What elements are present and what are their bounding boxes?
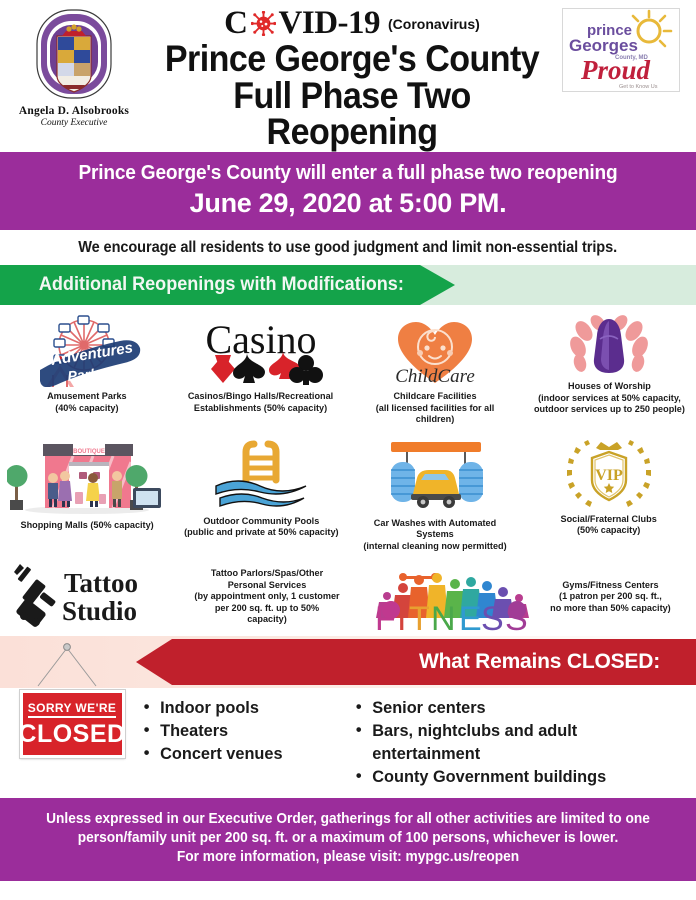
caption: Social/Fraternal Clubs (50% capacity): [561, 514, 657, 537]
caption-line-2: (indoor services at 50% capacity,: [534, 393, 685, 405]
fitness-people-icon: F I T N E S S: [371, 562, 541, 632]
caption-line-1: Amusement Parks: [47, 391, 127, 403]
caption-line-3: outdoor services up to 250 people): [534, 404, 685, 416]
svg-text:Park: Park: [67, 365, 100, 384]
tattoo-logo-line2: Studio: [62, 596, 137, 626]
reopenings-banner-strip: Additional Reopenings with Modifications…: [0, 265, 696, 305]
caption-line-1: Car Washes with Automated Systems: [356, 518, 514, 541]
reopening-item-outdoor-pools: Outdoor Community Pools (public and priv…: [174, 430, 348, 557]
reopening-item-amusement-parks: Adventures Park Amusement Parks (40% cap…: [0, 309, 174, 430]
caption-line-1: Tattoo Parlors/Spas/Other Personal Servi…: [194, 568, 340, 591]
coronavirus-label: (Coronavirus): [388, 16, 480, 32]
proud-logo-block: prince Georges County, MD Proud Get to K…: [556, 0, 696, 92]
caption-line-1: Gyms/Fitness Centers: [550, 580, 671, 592]
county-seal-block: Angela D. Alsobrooks County Executive: [0, 0, 148, 128]
closed-list-right: Senior centers Bars, nightclubs and adul…: [349, 696, 696, 788]
caption-line-3: per 200 sq. ft. up to 50% capacity): [194, 603, 340, 626]
reopenings-row-2: BOUTIQUE: [0, 430, 696, 557]
list-item: Concert venues: [144, 742, 326, 765]
caption: Casinos/Bingo Halls/Recreational Establi…: [188, 391, 333, 414]
caption-line-1: Houses of Worship: [534, 381, 685, 393]
header: Angela D. Alsobrooks County Executive C: [0, 0, 696, 152]
closed-banner-strip: What Remains CLOSED:: [0, 636, 696, 688]
caption: Car Washes with Automated Systems (inter…: [356, 518, 514, 553]
covid-suffix: VID-19: [279, 6, 381, 40]
tattoo-machine-icon: Tattoo Studio: [4, 562, 184, 632]
reopening-item-tattoo-parlors: Tattoo Studio Tattoo Parlors/Spas/Other …: [0, 556, 348, 636]
caption-line-2: (public and private at 50% capacity): [184, 527, 338, 539]
closed-section: What Remains CLOSED: SORRY WE'RE CLOSED …: [0, 636, 696, 798]
reopenings-grid: Adventures Park Amusement Parks (40% cap…: [0, 305, 696, 636]
caption-line-1: Childcare Facilities: [356, 391, 514, 403]
caption-line-1: Casinos/Bingo Halls/Recreational: [188, 391, 333, 403]
caption-line-2: (1 patron per 200 sq. ft.,: [550, 591, 671, 603]
footer-line-2: person/family unit per 200 sq. ft. or a …: [42, 829, 655, 848]
reopenings-banner-label: Additional Reopenings with Modifications…: [10, 274, 403, 296]
proud-line5: Get to Know Us: [619, 84, 658, 90]
sign-line-2: CLOSED: [18, 721, 125, 747]
childcare-logo-text: ChildCare: [395, 366, 475, 387]
svg-text:F: F: [375, 600, 396, 632]
caption-line-2: (internal cleaning now permitted): [356, 541, 514, 553]
caption-line-2: (40% capacity): [47, 403, 127, 415]
playing-card-suits-icon: Casino: [191, 315, 331, 387]
reopenings-row-1: Adventures Park Amusement Parks (40% cap…: [0, 309, 696, 430]
proud-line4: Proud: [580, 55, 651, 85]
footer-banner: Unless expressed in our Executive Order,…: [0, 798, 696, 881]
svg-text:N: N: [431, 600, 456, 632]
announcement-banner: Prince George's County will enter a full…: [0, 152, 696, 230]
caption-line-1: Social/Fraternal Clubs: [561, 514, 657, 526]
caption: Tattoo Parlors/Spas/Other Personal Servi…: [194, 568, 340, 626]
caption: Childcare Facilities (all licensed facil…: [356, 391, 514, 426]
footer-line-1: Unless expressed in our Executive Order,…: [42, 810, 655, 829]
list-item: Theaters: [144, 719, 326, 742]
praying-hands-icon: [550, 315, 668, 377]
caption-line-1: Outdoor Community Pools: [184, 516, 338, 528]
closed-list-left: Indoor pools Theaters Concert venues: [140, 696, 329, 788]
reopening-item-houses-of-worship: Houses of Worship (indoor services at 50…: [522, 309, 696, 430]
vip-logo-text: VIP: [595, 467, 623, 484]
svg-text:E: E: [459, 600, 482, 632]
reopenings-row-3: Tattoo Studio Tattoo Parlors/Spas/Other …: [0, 556, 696, 636]
footer-line-3: For more information, please visit: mypg…: [42, 848, 655, 867]
reopening-item-car-washes: Car Washes with Automated Systems (inter…: [348, 430, 522, 557]
title-line-2: Full Phase Two Reopening: [164, 78, 539, 150]
vip-laurel-crest-icon: VIP: [554, 436, 664, 510]
executive-title: County Executive: [41, 118, 108, 128]
closed-lists: Indoor pools Theaters Concert venues Sen…: [140, 690, 696, 788]
closed-banner-arrow: What Remains CLOSED:: [136, 639, 696, 685]
sign-line-1: SORRY WE'RE: [28, 701, 117, 718]
reopening-item-social-clubs: VIP Social/Fraternal Clubs (50% capacity…: [522, 430, 696, 557]
svg-text:I: I: [397, 600, 406, 632]
reopening-item-casinos: Casino Casinos/Bingo Halls/Recreational …: [174, 309, 348, 430]
storefront-boutique-icon: BOUTIQUE: [7, 436, 167, 516]
caption-line-2: (50% capacity): [561, 525, 657, 537]
caption-line-2: (by appointment only, 1 customer: [194, 591, 340, 603]
announcement-line-1: Prince George's County will enter a full…: [24, 161, 671, 185]
encouragement-label: We encourage all residents to use good j…: [79, 239, 618, 257]
covid-prefix: C: [224, 6, 247, 40]
closed-banner-label: What Remains CLOSED:: [419, 650, 696, 674]
svg-text:S: S: [505, 600, 528, 632]
caption-line-1: Shopping Malls (50% capacity): [20, 520, 153, 532]
caption: Shopping Malls (50% capacity): [20, 520, 153, 532]
caption: Houses of Worship (indoor services at 50…: [534, 381, 685, 416]
proud-logo-icon: prince Georges County, MD Proud Get to K…: [563, 9, 681, 93]
sorry-we-are-closed-sign: SORRY WE'RE CLOSED: [20, 690, 125, 758]
caption-line-3: no more than 50% capacity): [550, 603, 671, 615]
announcement-date: June 29, 2020 at 5:00 PM.: [0, 188, 696, 219]
covid-title-line: C VI: [148, 6, 556, 40]
closed-sign-column: SORRY WE'RE CLOSED: [0, 690, 140, 788]
closed-body: SORRY WE'RE CLOSED Indoor pools Theaters…: [0, 688, 696, 798]
caption: Gyms/Fitness Centers (1 patron per 200 s…: [550, 580, 671, 615]
sign-hanger-icon: [22, 642, 112, 688]
list-item: Indoor pools: [144, 696, 326, 719]
ferris-wheel-icon: Adventures Park: [28, 315, 146, 387]
car-wash-icon: [375, 436, 495, 514]
list-item: Senior centers: [356, 696, 689, 719]
caption-line-2: (all licensed facilities for all childre…: [356, 403, 514, 426]
title-line-1: Prince George's County: [164, 41, 539, 77]
proud-line2: Georges: [569, 36, 638, 55]
prince-georges-proud-logo: prince Georges County, MD Proud Get to K…: [562, 8, 680, 92]
reopenings-banner-arrow: Additional Reopenings with Modifications…: [0, 265, 455, 305]
svg-text:T: T: [409, 600, 430, 632]
county-seal-icon: [33, 6, 115, 102]
reopening-item-shopping-malls: BOUTIQUE: [0, 430, 174, 557]
reopening-item-childcare: ChildCare Childcare Facilities (all lice…: [348, 309, 522, 430]
caption-line-2: Establishments (50% capacity): [188, 403, 333, 415]
reopening-item-gyms: F I T N E S S Gyms/Fitness Centers (1 pa…: [348, 556, 696, 636]
svg-text:S: S: [481, 600, 504, 632]
encouragement-text: We encourage all residents to use good j…: [0, 230, 696, 265]
caption: Amusement Parks (40% capacity): [47, 391, 127, 414]
executive-name: Angela D. Alsobrooks: [19, 105, 129, 117]
tattoo-logo-line1: Tattoo: [64, 568, 138, 598]
caption: Outdoor Community Pools (public and priv…: [184, 516, 338, 539]
title-block: C VI: [148, 0, 556, 150]
coronavirus-icon: [251, 11, 276, 36]
list-item: County Government buildings: [356, 765, 689, 788]
baby-heart-icon: ChildCare: [376, 315, 494, 387]
boutique-sign-text: BOUTIQUE: [73, 449, 105, 455]
pool-ladder-icon: [206, 436, 316, 512]
list-item: Bars, nightclubs and adult entertainment: [356, 719, 689, 765]
